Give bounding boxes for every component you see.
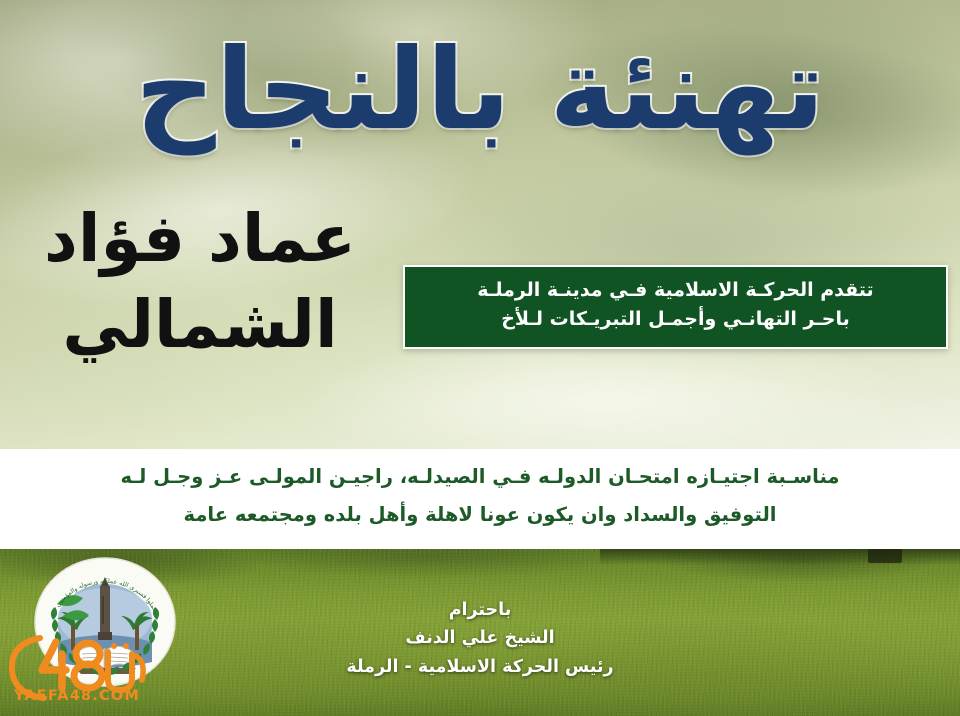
yaffa48-watermark: YAFFA48.COM: [4, 622, 154, 712]
message-line-1: مناسـبة اجتيـازه امتحـان الدولـه فـي الص…: [0, 467, 960, 487]
watermark-site-label: YAFFA48.COM: [14, 688, 144, 704]
signature-line-1: باحترام: [230, 596, 730, 624]
grass-post-marker: [868, 549, 902, 563]
honoree-name-line-1: عماد فؤاد: [20, 196, 380, 282]
message-band: مناسـبة اجتيـازه امتحـان الدولـه فـي الص…: [0, 449, 960, 549]
honoree-name-line-2: الشمالي: [20, 282, 380, 368]
signature-line-3: رئيس الحركة الاسلامية - الرملة: [230, 653, 730, 681]
announcement-line-1: تتقدم الحركـة الاسلامية فـي مدينـة الرمل…: [419, 276, 932, 305]
honoree-name-block: عماد فؤاد الشمالي: [20, 196, 380, 368]
page-title: تهنئة بالنجاح: [0, 26, 960, 155]
announcement-box: تتقدم الحركـة الاسلامية فـي مدينـة الرمل…: [403, 265, 948, 349]
grass-horizon-shadow: [600, 549, 960, 565]
congratulations-poster: تهنئة بالنجاح عماد فؤاد الشمالي تتقدم ال…: [0, 0, 960, 716]
announcement-line-2: باحـر التهانـي وأجمـل التبريـكات لـلأخ: [419, 305, 932, 334]
message-line-2: التوفيق والسداد وان يكون عونا لاهلة وأهل…: [0, 505, 960, 525]
signature-block: باحترام الشيخ علي الدنف رئيس الحركة الاس…: [230, 596, 730, 681]
signature-line-2: الشيخ علي الدنف: [230, 624, 730, 652]
